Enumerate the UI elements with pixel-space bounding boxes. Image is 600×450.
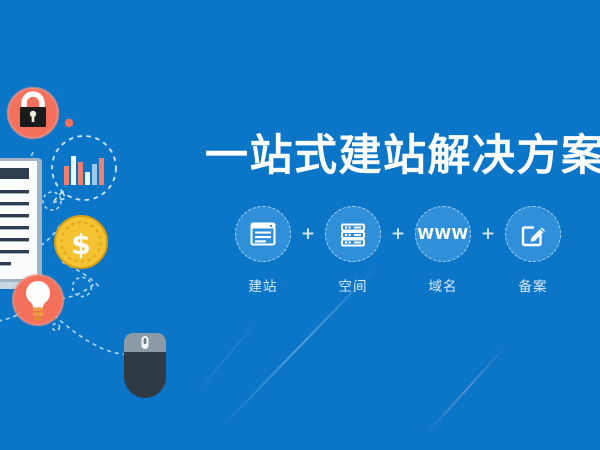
computer-mouse-icon: [124, 333, 166, 398]
service-icon-circle[interactable]: [325, 206, 381, 262]
server-rack-icon: [338, 219, 368, 249]
service-item-yuming[interactable]: WWW 域名: [409, 206, 477, 295]
plus-separator: +: [297, 206, 319, 262]
service-label: 备案: [519, 275, 548, 295]
edit-pencil-square-icon: [518, 219, 548, 249]
light-streak-decoration: [425, 345, 506, 435]
plus-separator: +: [387, 206, 409, 262]
page-title: 一站式建站解决方案: [205, 133, 590, 180]
left-illustration: $: [0, 0, 215, 450]
promo-banner: $ 一站式建站解决方案: [0, 0, 600, 450]
padlock-icon: [8, 88, 58, 138]
browser-page-icon: [248, 219, 278, 249]
service-item-beian[interactable]: 备案: [499, 206, 567, 295]
service-label: 域名: [429, 275, 458, 295]
service-icon-circle[interactable]: [505, 206, 561, 262]
dot-accent: [65, 119, 73, 127]
service-icon-circle[interactable]: WWW: [415, 206, 471, 262]
dollar-coin-icon: $: [55, 216, 107, 268]
www-text-icon: WWW: [417, 225, 468, 243]
lightbulb-icon: [13, 275, 63, 325]
service-item-kongjian[interactable]: 空间: [319, 206, 387, 295]
service-label: 空间: [339, 275, 368, 295]
svg-text:$: $: [71, 228, 90, 261]
service-list: 建站 +: [212, 206, 584, 295]
service-label: 建站: [249, 275, 278, 295]
bar-chart-speech-bubble-icon: [52, 136, 116, 203]
plus-separator: +: [477, 206, 499, 262]
service-icon-circle[interactable]: [235, 206, 291, 262]
service-item-jianzhan[interactable]: 建站: [229, 206, 297, 295]
document-page-icon: [0, 158, 52, 289]
